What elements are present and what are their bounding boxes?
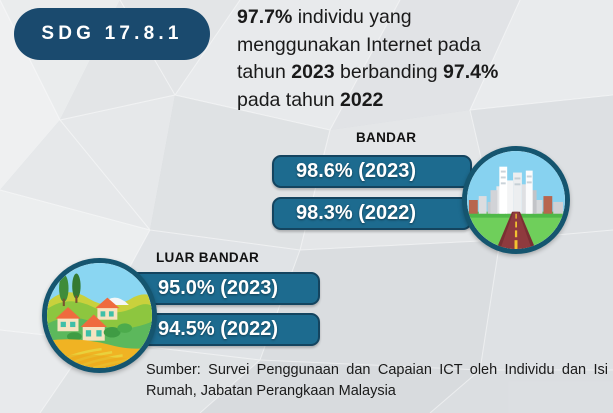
- city-icon-graphic: [467, 151, 565, 249]
- bandar-stat-pill-2022: 98.3% (2022): [272, 197, 472, 230]
- sdg-badge: SDG 17.8.1: [14, 8, 210, 60]
- bandar-stat-pill-2023: 98.6% (2023): [272, 155, 472, 188]
- luar-bandar-stat-value-2022: 94.5% (2022): [158, 318, 278, 341]
- bandar-stat-value-2022: 98.3% (2022): [296, 202, 416, 225]
- luar-bandar-stat-value-2023: 95.0% (2023): [158, 277, 278, 300]
- village-icon: [42, 258, 157, 373]
- headline-line3-pre: tahun: [237, 61, 291, 83]
- bandar-stat-value-2023: 98.6% (2023): [296, 160, 416, 183]
- headline-line4-pre: pada tahun: [237, 89, 340, 111]
- region-label-luar-bandar: LUAR BANDAR: [156, 250, 259, 265]
- headline-line3-mid: berbanding: [335, 61, 443, 83]
- headline-text: 97.7% individu yang menggunakan Internet…: [237, 4, 609, 114]
- headline-line2: menggunakan Internet pada: [237, 34, 481, 56]
- headline-value-2023: 97.7%: [237, 6, 292, 28]
- sdg-badge-label: SDG 17.8.1: [41, 23, 182, 45]
- region-label-bandar: BANDAR: [356, 130, 416, 145]
- village-icon-graphic: [47, 263, 152, 368]
- headline-year-2023: 2023: [291, 61, 334, 83]
- headline-year-2022: 2022: [340, 89, 383, 111]
- headline-value-2022: 97.4%: [443, 61, 498, 83]
- source-note: Sumber: Survei Penggunaan dan Capaian IC…: [146, 360, 608, 402]
- city-icon: [462, 146, 570, 254]
- headline-line1-rest: individu yang: [292, 6, 411, 28]
- infographic-root: SDG 17.8.1 97.7% individu yang menggunak…: [0, 0, 613, 413]
